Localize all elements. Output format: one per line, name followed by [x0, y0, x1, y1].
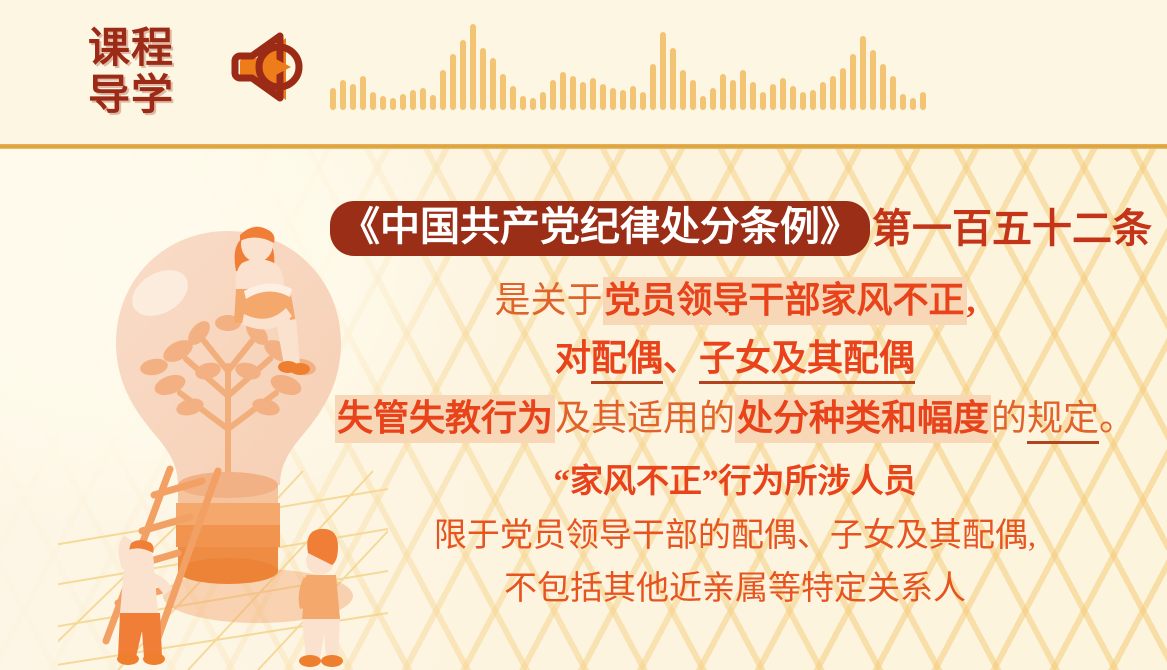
text-line-1: 《中国共产党纪律处分条例》第一百五十二条: [330, 201, 1140, 256]
text-line-4: 失管失教行为及其适用的处分种类和幅度的规定。: [330, 400, 1140, 436]
waveform-bar: [340, 80, 346, 110]
waveform-bar: [520, 96, 526, 110]
waveform-bar: [550, 80, 556, 110]
audio-waveform: [330, 10, 1140, 110]
regulation-title-pill: 《中国共产党纪律处分条例》: [330, 201, 870, 256]
waveform-bar: [830, 76, 836, 110]
line4-mid2: 的: [991, 398, 1027, 438]
line3-underline-a: 配偶: [591, 338, 663, 384]
waveform-bar: [700, 96, 706, 110]
line3-underline-b: 子女及其配偶: [699, 338, 915, 384]
waveform-bar: [510, 86, 516, 110]
waveform-bar: [660, 32, 666, 110]
waveform-bar: [580, 82, 586, 110]
waveform-bar: [890, 76, 896, 110]
header-bar: 课程 导学: [0, 0, 1167, 148]
waveform-bar: [350, 84, 356, 110]
line2-lead: 是关于: [494, 280, 602, 320]
waveform-bar: [780, 78, 786, 110]
waveform-bar: [870, 50, 876, 110]
line4-highlight-a: 失管失教行为: [335, 395, 555, 443]
waveform-bar: [850, 54, 856, 110]
line2-highlight: 党员领导干部家风不正: [603, 277, 967, 325]
logo-line-2: 导学: [88, 71, 200, 118]
waveform-bar: [360, 76, 366, 110]
article-number: 第一百五十二条: [870, 206, 1152, 251]
line4-highlight-b: 处分种类和幅度: [735, 395, 991, 443]
waveform-bar: [460, 40, 466, 110]
waveform-bar: [610, 88, 616, 110]
text-line-6: 限于党员领导干部的配偶、子女及其配偶,: [330, 520, 1140, 553]
waveform-bar: [670, 48, 676, 110]
waveform-bar: [880, 64, 886, 110]
waveform-bar: [620, 90, 626, 110]
waveform-bar: [480, 48, 486, 110]
text-line-2: 是关于党员领导干部家风不正,: [330, 282, 1140, 318]
waveform-bar: [450, 54, 456, 110]
article-text-block: 《中国共产党纪律处分条例》第一百五十二条 是关于党员领导干部家风不正, 对配偶、…: [330, 199, 1140, 669]
bulb-contact: [178, 558, 278, 584]
waveform-bar: [800, 92, 806, 110]
waveform-bar: [810, 90, 816, 110]
waveform-bar: [740, 70, 746, 110]
waveform-bar: [860, 36, 866, 110]
waveform-bar: [910, 98, 916, 110]
waveform-bar: [570, 76, 576, 110]
waveform-bar: [760, 92, 766, 110]
text-line-3: 对配偶、子女及其配偶: [330, 340, 1140, 376]
waveform-bar: [330, 88, 336, 110]
logo-line-1: 课程: [88, 24, 200, 71]
line4-underline: 规定: [1027, 398, 1099, 444]
waveform-bar: [900, 94, 906, 110]
waveform-bar: [540, 92, 546, 110]
line3-separator: 、: [663, 338, 699, 378]
line4-period: 。: [1099, 398, 1135, 438]
waveform-bar: [590, 78, 596, 110]
waveform-bar: [400, 94, 406, 110]
waveform-bar: [390, 98, 396, 110]
line3-lead: 对: [555, 338, 591, 378]
text-line-7: 不包括其他近亲属等特定关系人: [330, 573, 1140, 606]
line2-comma: ,: [967, 280, 976, 320]
waveform-bar: [730, 80, 736, 110]
waveform-bar: [470, 24, 476, 110]
waveform-bar: [490, 58, 496, 110]
waveform-bar: [410, 90, 416, 110]
waveform-bar: [770, 84, 776, 110]
waveform-bar: [680, 70, 686, 110]
waveform-bar: [530, 98, 536, 110]
waveform-bar: [560, 72, 566, 110]
content-area: 《中国共产党纪律处分条例》第一百五十二条 是关于党员领导干部家风不正, 对配偶、…: [0, 149, 1167, 670]
waveform-bar: [790, 86, 796, 110]
waveform-bar: [840, 68, 846, 110]
waveform-bar: [430, 95, 436, 110]
waveform-bar: [920, 92, 926, 110]
waveform-bar: [750, 82, 756, 110]
course-guide-logo: 课程 导学: [88, 24, 200, 122]
waveform-bar: [710, 88, 716, 110]
waveform-bar: [500, 74, 506, 110]
waveform-bar: [380, 96, 386, 110]
waveform-bar: [440, 70, 446, 110]
waveform-bar: [640, 92, 646, 110]
line4-mid: 及其适用的: [555, 398, 735, 438]
waveform-bar: [630, 86, 636, 110]
waveform-bar: [600, 84, 606, 110]
waveform-bar: [370, 92, 376, 110]
waveform-bar: [720, 74, 726, 110]
text-line-5: “家风不正”行为所涉人员: [330, 466, 1140, 499]
waveform-bar: [650, 64, 656, 110]
waveform-bar: [420, 88, 426, 110]
waveform-bar: [820, 82, 826, 110]
waveform-bar: [690, 80, 696, 110]
speaker-play-icon[interactable]: [224, 28, 312, 110]
infographic-page: 课程 导学: [0, 0, 1167, 670]
